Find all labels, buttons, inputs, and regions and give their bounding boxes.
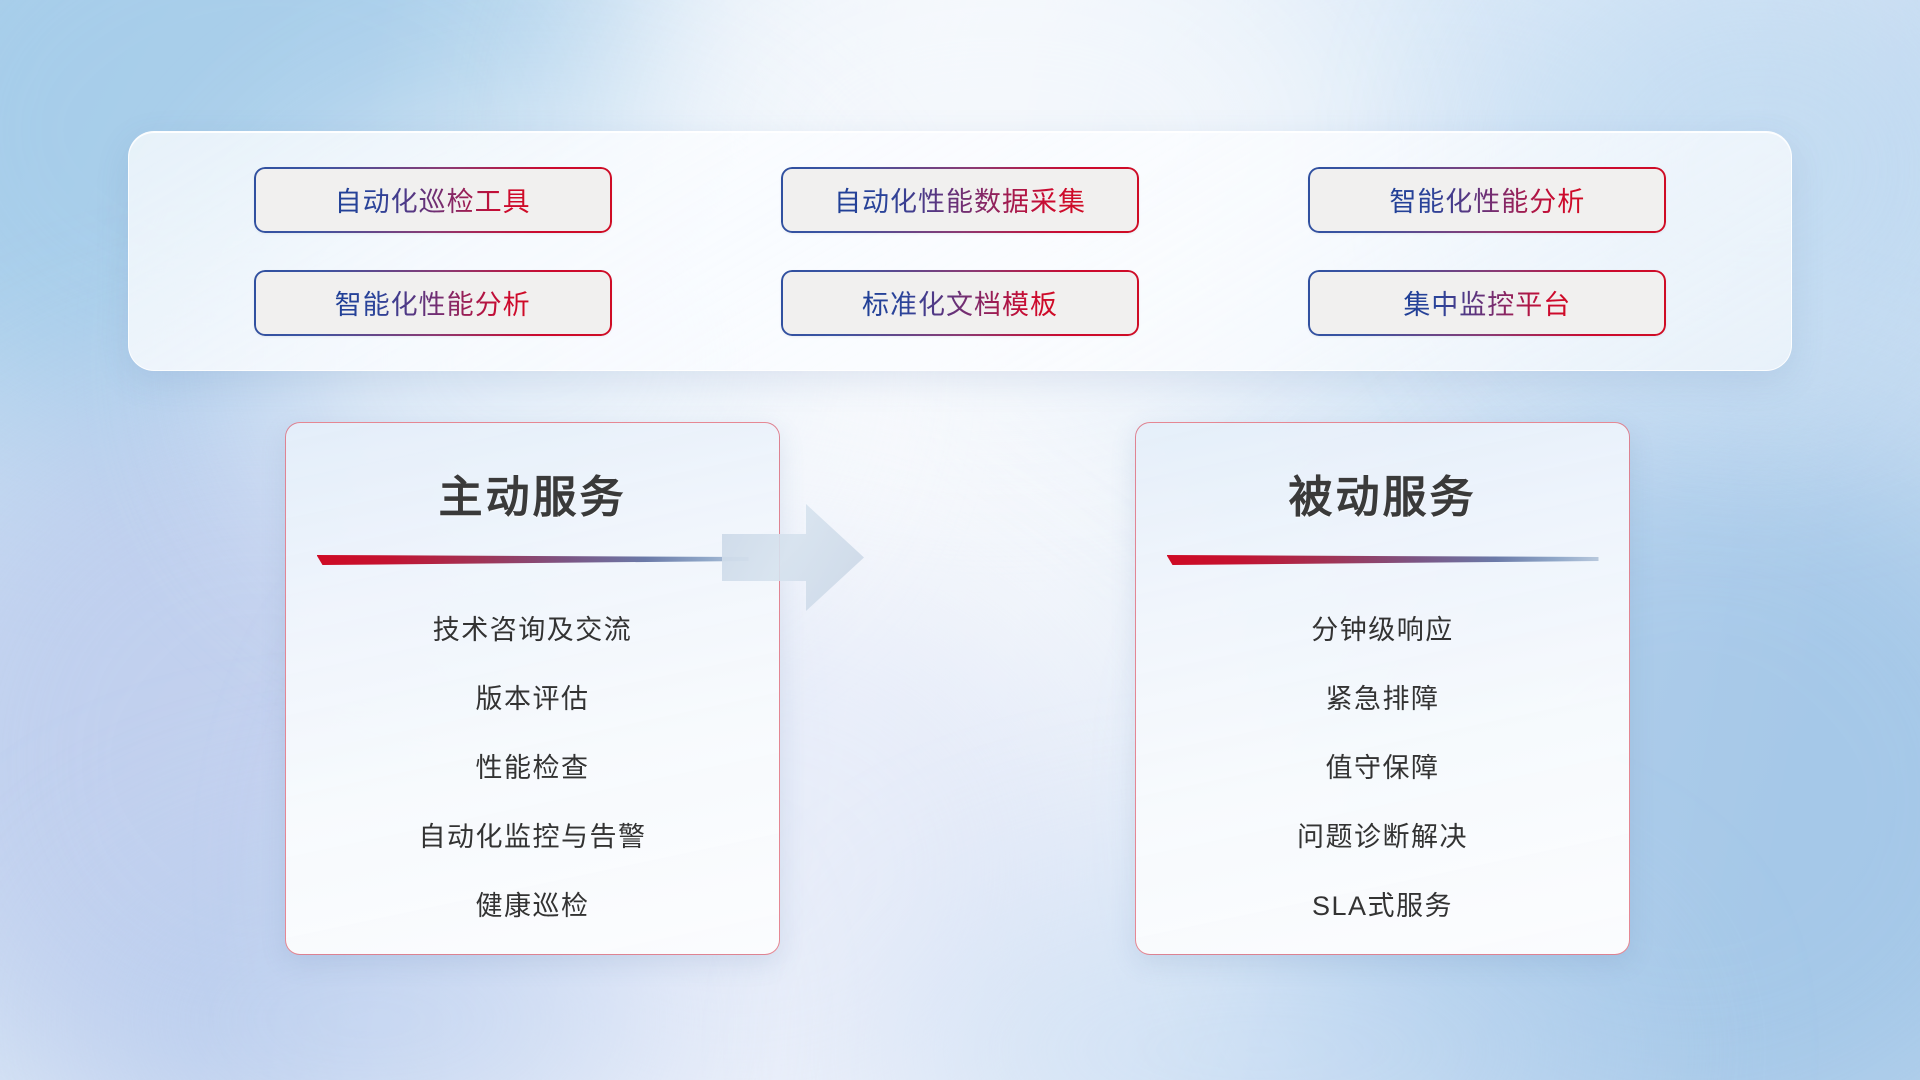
capability-pill-5[interactable]: 标准化文档模板 [781,270,1139,336]
service-card-active: 主动服务 技术咨询及交流 版本评估 性能检查 自动化监控与告警 健康巡检 [285,422,780,955]
list-item: 自动化监控与告警 [286,800,779,869]
card-list: 分钟级响应 紧急排障 值守保障 问题诊断解决 SLA式服务 [1136,593,1629,938]
list-item: 健康巡检 [286,869,779,938]
list-item: 性能检查 [286,731,779,800]
list-item: SLA式服务 [1136,869,1629,938]
card-divider [1167,555,1599,565]
capability-pill-label: 自动化巡检工具 [335,180,531,219]
capability-pill-1[interactable]: 自动化巡检工具 [254,167,612,233]
capability-panel: 自动化巡检工具 自动化性能数据采集 智能化性能分析 智能化性能分析 标准化文档模… [128,131,1792,371]
capability-pill-label: 智能化性能分析 [1389,180,1585,219]
list-item: 版本评估 [286,662,779,731]
capability-pill-6[interactable]: 集中监控平台 [1308,270,1666,336]
card-list: 技术咨询及交流 版本评估 性能检查 自动化监控与告警 健康巡检 [286,593,779,938]
list-item: 紧急排障 [1136,662,1629,731]
list-item: 技术咨询及交流 [286,593,779,662]
right-arrow-icon [718,500,868,615]
service-card-passive: 被动服务 分钟级响应 紧急排障 值守保障 问题诊断解决 SLA式服务 [1135,422,1630,955]
card-divider [317,555,749,565]
capability-pill-3[interactable]: 智能化性能分析 [1308,167,1666,233]
list-item: 分钟级响应 [1136,593,1629,662]
capability-pill-label: 智能化性能分析 [335,283,531,322]
capability-pill-2[interactable]: 自动化性能数据采集 [781,167,1139,233]
capability-pill-grid: 自动化巡检工具 自动化性能数据采集 智能化性能分析 智能化性能分析 标准化文档模… [129,132,1791,370]
card-title: 主动服务 [286,461,779,525]
capability-pill-label: 集中监控平台 [1403,283,1571,322]
list-item: 问题诊断解决 [1136,800,1629,869]
capability-pill-label: 自动化性能数据采集 [834,180,1086,219]
capability-pill-4[interactable]: 智能化性能分析 [254,270,612,336]
list-item: 值守保障 [1136,731,1629,800]
card-title: 被动服务 [1136,461,1629,525]
capability-pill-label: 标准化文档模板 [862,283,1058,322]
